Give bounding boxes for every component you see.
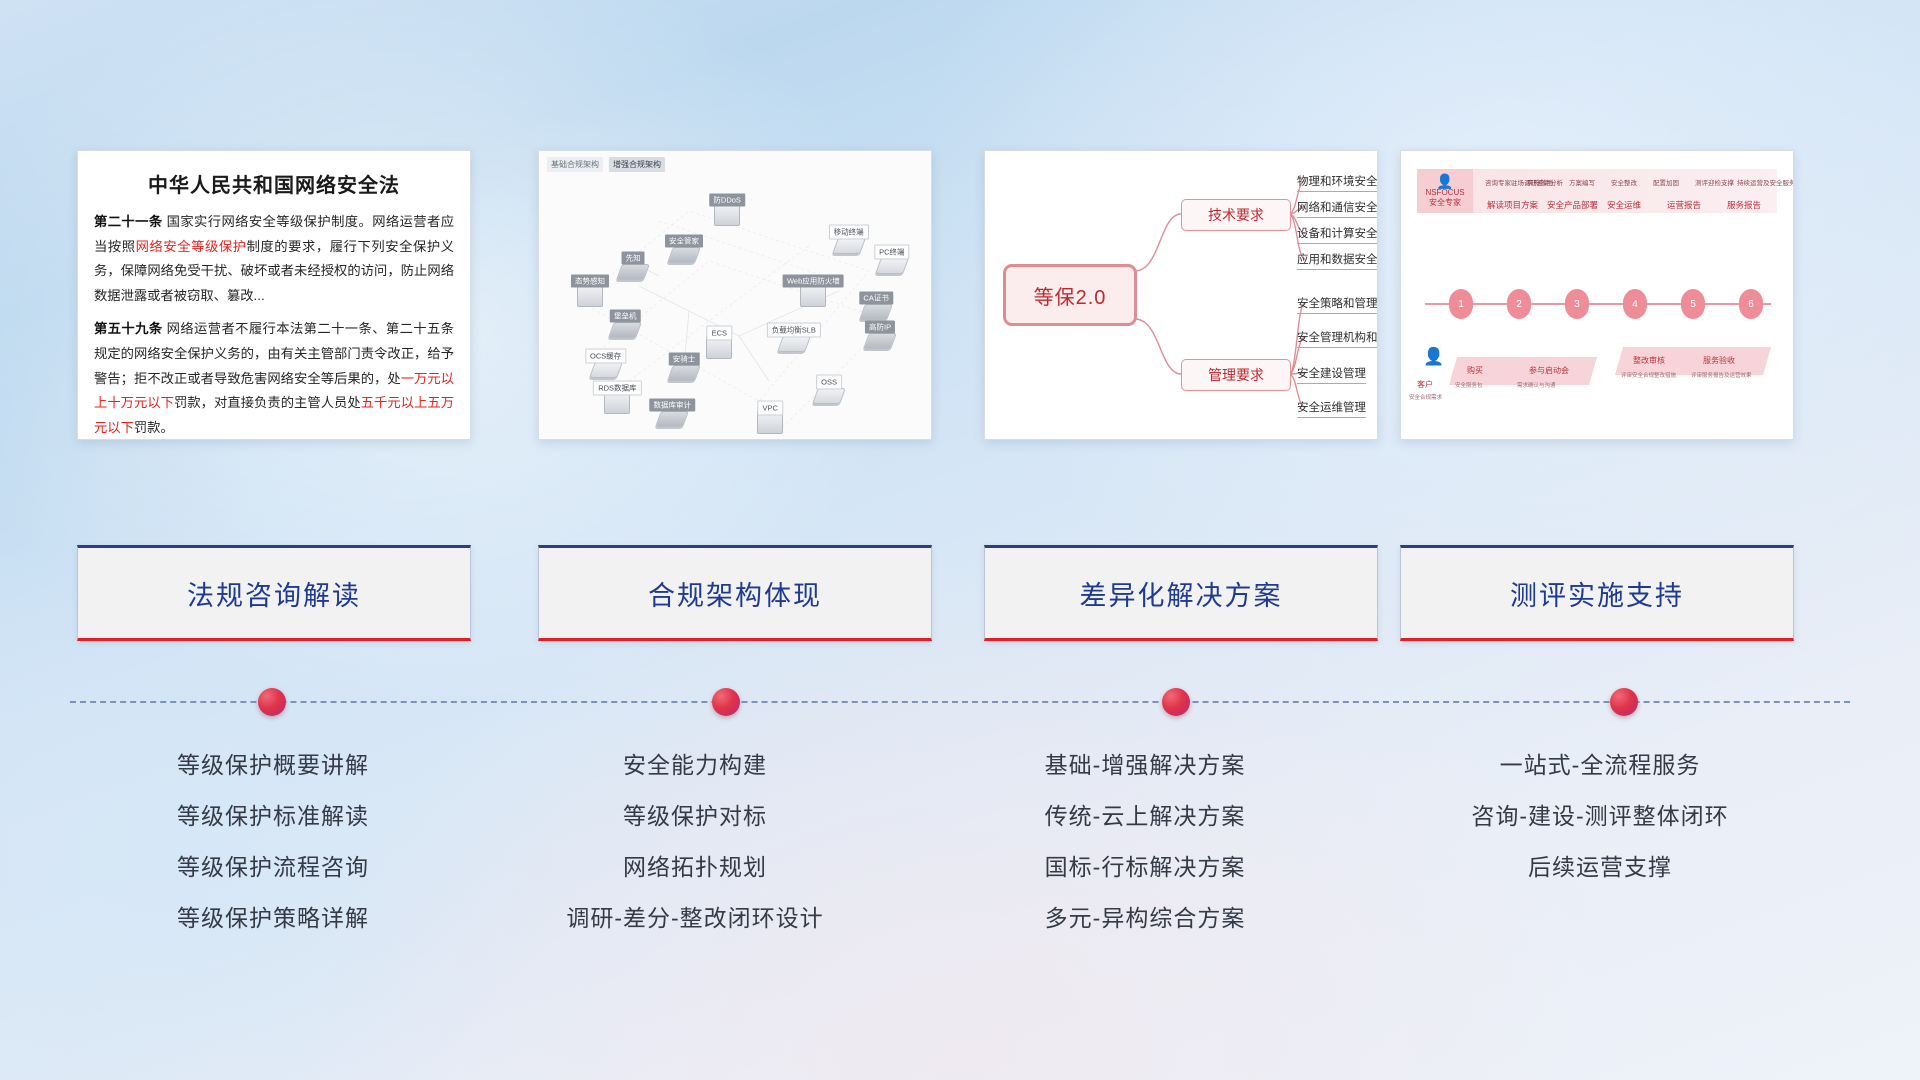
mindmap-leaf-technical: 物理和环境安全 xyxy=(1297,173,1378,192)
server-icon xyxy=(832,238,866,254)
server-icon xyxy=(812,388,846,404)
bullet-item: 等级保护标准解读 xyxy=(58,791,488,842)
roadmap-step-dot: 1 xyxy=(1449,289,1473,319)
architecture-node-label: PC终端 xyxy=(874,245,909,260)
article-21-label: 第二十一条 xyxy=(94,214,163,229)
architecture-node-label: ECS xyxy=(707,325,732,340)
server-icon xyxy=(863,333,897,349)
roadmap-header-item: 持续运营及安全服务上线运行后服务 xyxy=(1737,177,1794,187)
title-label-4: 测评实施支持 xyxy=(1510,574,1684,613)
card-row: 中华人民共和国网络安全法 第二十一条 国家实行网络安全等级保护制度。网络运营者应… xyxy=(0,150,1920,450)
architecture-node xyxy=(835,238,863,254)
article-59-text-end: 罚款。 xyxy=(134,420,174,435)
bullet-item: 等级保护策略详解 xyxy=(58,893,488,944)
roadmap-bottom-note: 评审服务报告及运营效果 xyxy=(1691,371,1752,379)
roadmap-header-item: 实施落地 xyxy=(1527,177,1553,187)
bullet-item: 网络拓扑规划 xyxy=(480,842,910,893)
roadmap-bottom-label: 服务验收 xyxy=(1703,355,1735,366)
server-icon xyxy=(859,304,893,320)
architecture-node xyxy=(611,322,639,338)
bullet-item: 传统-云上解决方案 xyxy=(930,791,1360,842)
architecture-node-label: 先知 xyxy=(622,251,645,264)
roadmap-step-dot: 4 xyxy=(1623,289,1647,319)
architecture-node xyxy=(670,247,698,263)
article-59-text-mid: 罚款，对直接负责的主管人员处 xyxy=(174,395,361,410)
timeline-dot-4 xyxy=(1610,688,1638,716)
roadmap-canvas: 👤 NSFOCUS 安全专家 咨询专家驻场调研差距分析实施落地方案编写安全整改配… xyxy=(1401,151,1793,439)
card-law-text: 中华人民共和国网络安全法 第二十一条 国家实行网络安全等级保护制度。网络运营者应… xyxy=(77,150,471,440)
law-title: 中华人民共和国网络安全法 xyxy=(94,169,454,198)
title-box-evaluation-support[interactable]: 测评实施支持 xyxy=(1400,545,1794,641)
timeline-dot-2 xyxy=(712,688,740,716)
brand-sub: 安全专家 xyxy=(1429,198,1461,208)
bullet-item: 等级保护流程咨询 xyxy=(58,842,488,893)
architecture-node-label: 高防IP xyxy=(865,321,895,334)
roadmap-step-dot: 5 xyxy=(1681,289,1705,319)
architecture-node xyxy=(658,411,686,427)
article-21-highlight: 网络安全等级保护 xyxy=(136,239,247,254)
roadmap-timeline-line xyxy=(1425,303,1771,305)
brand-name: NSFOCUS xyxy=(1425,188,1464,198)
bullet-column-3: 基础-增强解决方案传统-云上解决方案国标-行标解决方案多元-异构综合方案 xyxy=(930,740,1360,944)
title-label-3: 差异化解决方案 xyxy=(1080,574,1283,613)
title-label-2: 合规架构体现 xyxy=(648,574,822,613)
roadmap-stage-label: 服务报告 xyxy=(1727,199,1761,211)
architecture-node xyxy=(815,388,843,404)
bullet-column-1: 等级保护概要讲解等级保护标准解读等级保护流程咨询等级保护策略详解 xyxy=(58,740,488,944)
architecture-node xyxy=(592,362,620,378)
architecture-node xyxy=(862,304,890,320)
roadmap-bottom-label: 购买 xyxy=(1467,365,1483,376)
server-icon xyxy=(616,264,650,280)
roadmap-step-dot: 3 xyxy=(1565,289,1589,319)
server-icon xyxy=(875,258,909,274)
bullet-item: 咨询-建设-测评整体闭环 xyxy=(1385,791,1815,842)
mindmap-leaf-technical: 设备和计算安全 xyxy=(1297,225,1378,244)
person-icon: 👤 xyxy=(1436,174,1453,188)
title-label-1: 法规咨询解读 xyxy=(187,574,361,613)
server-icon xyxy=(608,322,642,338)
architecture-node xyxy=(780,336,808,352)
architecture-node xyxy=(619,264,647,280)
server-icon xyxy=(589,362,623,378)
architecture-node-label: 负载均衡SLB xyxy=(767,322,821,337)
bullet-item: 等级保护概要讲解 xyxy=(58,740,488,791)
roadmap-header-item: 安全整改 xyxy=(1611,177,1637,187)
card-mindmap: 等保2.0 技术要求 管理要求 物理和环境安全网络和通信安全设备和计算安全应用和… xyxy=(984,150,1378,440)
architecture-node-label: 防DDoS xyxy=(709,194,745,207)
title-box-compliance-architecture[interactable]: 合规架构体现 xyxy=(538,545,932,641)
roadmap-step-dot: 2 xyxy=(1507,289,1531,319)
roadmap-bottom-label: 整改审核 xyxy=(1633,355,1665,366)
roadmap-bottom-note: 需求确认与沟通 xyxy=(1517,381,1556,389)
roadmap-bottom-label: 参与启动会 xyxy=(1529,365,1569,376)
bullet-item: 安全能力构建 xyxy=(480,740,910,791)
bullet-item: 等级保护对标 xyxy=(480,791,910,842)
architecture-node-label: Web应用防火墙 xyxy=(783,275,844,288)
roadmap-header-item: 测评迎检支撑 xyxy=(1695,177,1734,187)
roadmap-bottom-note: 评审安全合规整改措施 xyxy=(1621,371,1676,379)
roadmap-bottom-note: 安全服务包 xyxy=(1455,381,1483,389)
timeline-dot-3 xyxy=(1162,688,1190,716)
title-box-differentiated-solution[interactable]: 差异化解决方案 xyxy=(984,545,1378,641)
server-icon xyxy=(655,411,689,427)
roadmap-customer-label: 客户 xyxy=(1417,379,1433,390)
roadmap-brand-badge: 👤 NSFOCUS 安全专家 xyxy=(1417,169,1473,213)
architecture-node-label: OSS xyxy=(816,374,842,389)
roadmap-customer-note: 安全合规需求 xyxy=(1409,393,1442,401)
architecture-node-label: 安骑士 xyxy=(669,352,700,365)
bullet-item: 多元-异构综合方案 xyxy=(930,893,1360,944)
law-article-21: 第二十一条 国家实行网络安全等级保护制度。网络运营者应当按照网络安全等级保护制度… xyxy=(94,210,454,308)
mindmap-leaf-technical: 应用和数据安全 xyxy=(1297,251,1378,270)
law-article-59: 第五十九条 网络运营者不履行本法第二十一条、第二十五条规定的网络安全保护义务的，… xyxy=(94,317,454,440)
server-icon xyxy=(667,365,701,381)
mindmap-leaf-management: 安全运维管理 xyxy=(1297,399,1366,418)
roadmap-header-item: 配置加固 xyxy=(1653,177,1679,187)
architecture-node xyxy=(878,258,906,274)
roadmap-stage-label: 运营报告 xyxy=(1667,199,1701,211)
timeline-dashed-line xyxy=(70,701,1850,703)
roadmap-step-dot: 6 xyxy=(1739,289,1763,319)
mindmap-leaf-technical: 网络和通信安全 xyxy=(1297,199,1378,218)
timeline-dot-1 xyxy=(258,688,286,716)
architecture-node xyxy=(670,365,698,381)
bullet-column-2: 安全能力构建等级保护对标网络拓扑规划调研-差分-整改闭环设计 xyxy=(480,740,910,944)
roadmap-stage-label: 安全产品部署 xyxy=(1547,199,1598,211)
roadmap-stage-label: 安全运维 xyxy=(1607,199,1641,211)
title-box-row: 法规咨询解读 合规架构体现 差异化解决方案 测评实施支持 xyxy=(0,545,1920,637)
architecture-node-label: 态势感知 xyxy=(571,275,609,288)
mindmap-canvas: 等保2.0 技术要求 管理要求 物理和环境安全网络和通信安全设备和计算安全应用和… xyxy=(985,151,1377,439)
architecture-node-label: RDS数据库 xyxy=(593,380,641,395)
mindmap-branch-management: 管理要求 xyxy=(1181,359,1291,391)
server-icon xyxy=(667,247,701,263)
architecture-node-label: 数据库审计 xyxy=(650,398,696,411)
mindmap-leaf-management: 安全管理机构和人员 xyxy=(1297,329,1378,348)
architecture-node xyxy=(866,333,894,349)
bullet-columns: 等级保护概要讲解等级保护标准解读等级保护流程咨询等级保护策略详解 安全能力构建等… xyxy=(0,740,1920,960)
architecture-node-label: 安全管家 xyxy=(665,234,703,247)
mindmap-root-node: 等保2.0 xyxy=(1003,264,1137,326)
title-box-regulation-consulting[interactable]: 法规咨询解读 xyxy=(77,545,471,641)
mindmap-branch-technical: 技术要求 xyxy=(1181,199,1291,231)
bullet-item: 后续运营支撑 xyxy=(1385,842,1815,893)
bullet-item: 一站式-全流程服务 xyxy=(1385,740,1815,791)
architecture-node-label: OCS缓存 xyxy=(585,348,626,363)
architecture-node-label: CA证书 xyxy=(859,292,892,305)
mindmap-leaf-management: 安全策略和管理制度 xyxy=(1297,295,1378,314)
bullet-item: 国标-行标解决方案 xyxy=(930,842,1360,893)
law-body: 中华人民共和国网络安全法 第二十一条 国家实行网络安全等级保护制度。网络运营者应… xyxy=(78,151,470,439)
infographic-root: 中华人民共和国网络安全法 第二十一条 国家实行网络安全等级保护制度。网络运营者应… xyxy=(0,0,1920,1080)
mindmap-leaf-management: 安全建设管理 xyxy=(1297,365,1366,384)
roadmap-stage-label: 解读项目方案 xyxy=(1487,199,1538,211)
bullet-item: 基础-增强解决方案 xyxy=(930,740,1360,791)
architecture-node-label: 移动终端 xyxy=(829,225,869,240)
card-roadmap: 👤 NSFOCUS 安全专家 咨询专家驻场调研差距分析实施落地方案编写安全整改配… xyxy=(1400,150,1794,440)
customer-icon: 👤 xyxy=(1423,347,1444,367)
bullet-item: 调研-差分-整改闭环设计 xyxy=(480,893,910,944)
bullet-column-4: 一站式-全流程服务咨询-建设-测评整体闭环后续运营支撑 xyxy=(1385,740,1815,893)
card-architecture-diagram: 基础合规架构 增强合规架构 xyxy=(538,150,932,440)
roadmap-header-item: 方案编写 xyxy=(1569,177,1595,187)
server-icon xyxy=(777,336,811,352)
architecture-node-label: VPC xyxy=(758,400,783,415)
architecture-node-label: 堡垒机 xyxy=(610,309,641,322)
architecture-canvas: 基础合规架构 增强合规架构 xyxy=(539,151,931,439)
timeline xyxy=(0,683,1920,723)
article-59-label: 第五十九条 xyxy=(94,321,163,336)
